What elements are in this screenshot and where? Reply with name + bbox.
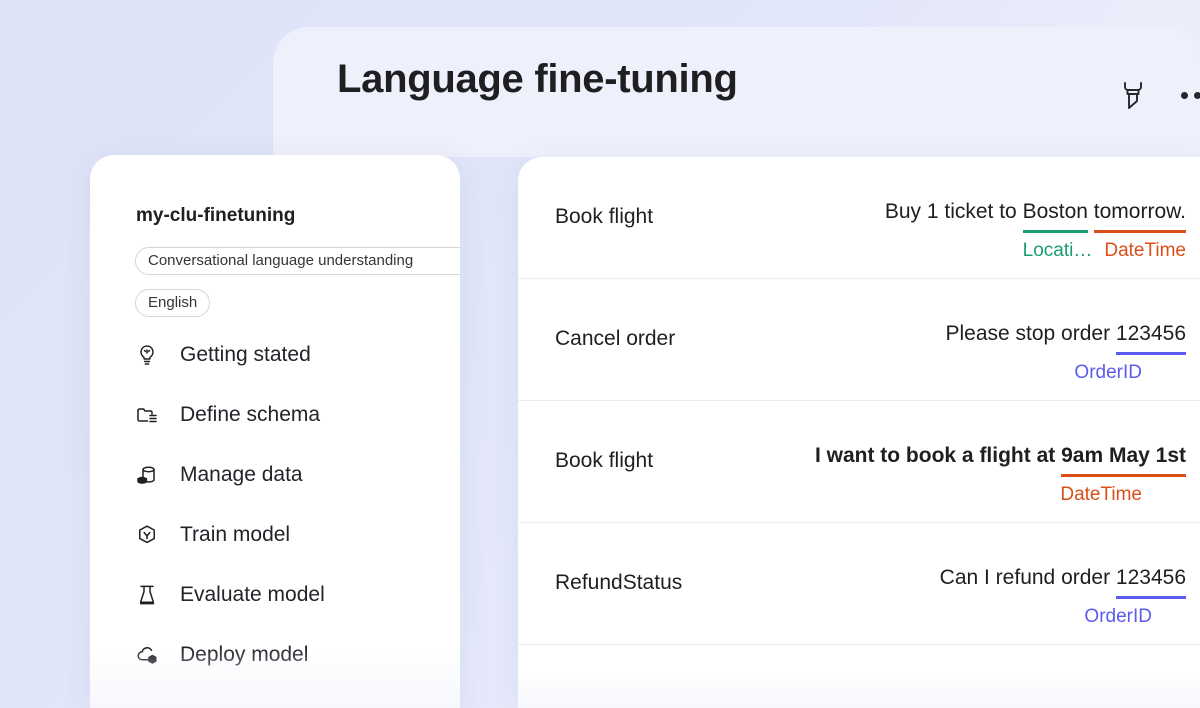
sidebar-nav: Getting stated Define schema xyxy=(134,325,460,685)
row-utterance: I want to book a flight at 9am May 1st D… xyxy=(743,401,1200,504)
project-name: my-clu-finetuning xyxy=(136,205,295,227)
entity-labels: OrderID xyxy=(743,363,1186,382)
sidebar-item-manage-data[interactable]: Manage data xyxy=(134,445,460,505)
row-intent: Book flight xyxy=(518,401,743,473)
utterances-table: Book flight Buy 1 ticket to Boston tomor… xyxy=(518,157,1200,708)
badge-language: English xyxy=(135,289,210,317)
sidebar-item-label: Evaluate model xyxy=(180,583,325,607)
entity-label-location: Locati… xyxy=(1023,241,1093,260)
table-row[interactable]: Cancel order Please stop order 123456 Or… xyxy=(518,279,1200,401)
project-badges: Conversational language understanding En… xyxy=(135,247,460,317)
entity-datetime[interactable]: tomorrow. xyxy=(1094,199,1186,227)
sidebar-item-label: Getting stated xyxy=(180,343,311,367)
entity-labels: Locati… DateTime xyxy=(743,241,1186,260)
hexagon-clock-icon xyxy=(134,522,160,548)
table-row[interactable]: RefundStatus Can I refund order 123456 O… xyxy=(518,523,1200,645)
utterance-prefix: Buy 1 ticket to xyxy=(885,200,1023,223)
row-utterance: Can I refund order 123456 OrderID xyxy=(743,523,1200,626)
entity-orderid[interactable]: 123456 xyxy=(1116,321,1186,349)
table-row-empty[interactable] xyxy=(518,645,1200,705)
sidebar-item-train-model[interactable]: Train model xyxy=(134,505,460,565)
utterance-prefix: Can I refund order xyxy=(940,566,1116,589)
highlighter-icon[interactable] xyxy=(1111,73,1155,117)
sidebar-item-evaluate-model[interactable]: Evaluate model xyxy=(134,565,460,625)
entity-orderid[interactable]: 123456 xyxy=(1116,565,1186,593)
sidebar-item-deploy-model[interactable]: Deploy model xyxy=(134,625,460,685)
sidebar-item-label: Define schema xyxy=(180,403,320,427)
entity-datetime[interactable]: 9am May 1st xyxy=(1061,443,1186,471)
utterance-prefix: Please stop order xyxy=(945,322,1115,345)
lightbulb-icon xyxy=(134,342,160,368)
entity-label-datetime: DateTime xyxy=(1104,241,1186,260)
sidebar-item-getting-started[interactable]: Getting stated xyxy=(134,325,460,385)
entity-label-datetime: DateTime xyxy=(1060,485,1142,504)
folder-list-icon xyxy=(134,402,160,428)
entity-label-orderid: OrderID xyxy=(1074,363,1142,382)
entity-labels: OrderID xyxy=(743,607,1186,626)
sidebar-item-label: Deploy model xyxy=(180,643,308,667)
row-utterance: Please stop order 123456 OrderID xyxy=(743,279,1200,382)
sidebar-panel: my-clu-finetuning Conversational languag… xyxy=(90,155,460,708)
table-row[interactable]: Book flight I want to book a flight at 9… xyxy=(518,401,1200,523)
page-title: Language fine-tuning xyxy=(337,57,738,102)
beaker-icon xyxy=(134,582,160,608)
table-row[interactable]: Book flight Buy 1 ticket to Boston tomor… xyxy=(518,157,1200,279)
entity-location[interactable]: Boston xyxy=(1023,199,1088,227)
entity-label-orderid: OrderID xyxy=(1084,607,1152,626)
cloud-cube-icon xyxy=(134,642,160,668)
entity-labels: DateTime xyxy=(743,485,1186,504)
row-intent: RefundStatus xyxy=(518,523,743,595)
row-intent: Cancel order xyxy=(518,279,743,351)
sidebar-item-define-schema[interactable]: Define schema xyxy=(134,385,460,445)
header-panel: Language fine-tuning xyxy=(273,27,1200,157)
sidebar-item-label: Train model xyxy=(180,523,290,547)
utterance-prefix: I want to book a flight at xyxy=(815,444,1061,467)
header-actions xyxy=(1111,73,1200,117)
row-utterance: Buy 1 ticket to Boston tomorrow. Locati…… xyxy=(743,157,1200,260)
sidebar-item-label: Manage data xyxy=(180,463,303,487)
row-intent: Book flight xyxy=(518,157,743,229)
badge-project-type: Conversational language understanding xyxy=(135,247,460,275)
more-options-icon[interactable] xyxy=(1181,92,1200,99)
database-icon xyxy=(134,462,160,488)
